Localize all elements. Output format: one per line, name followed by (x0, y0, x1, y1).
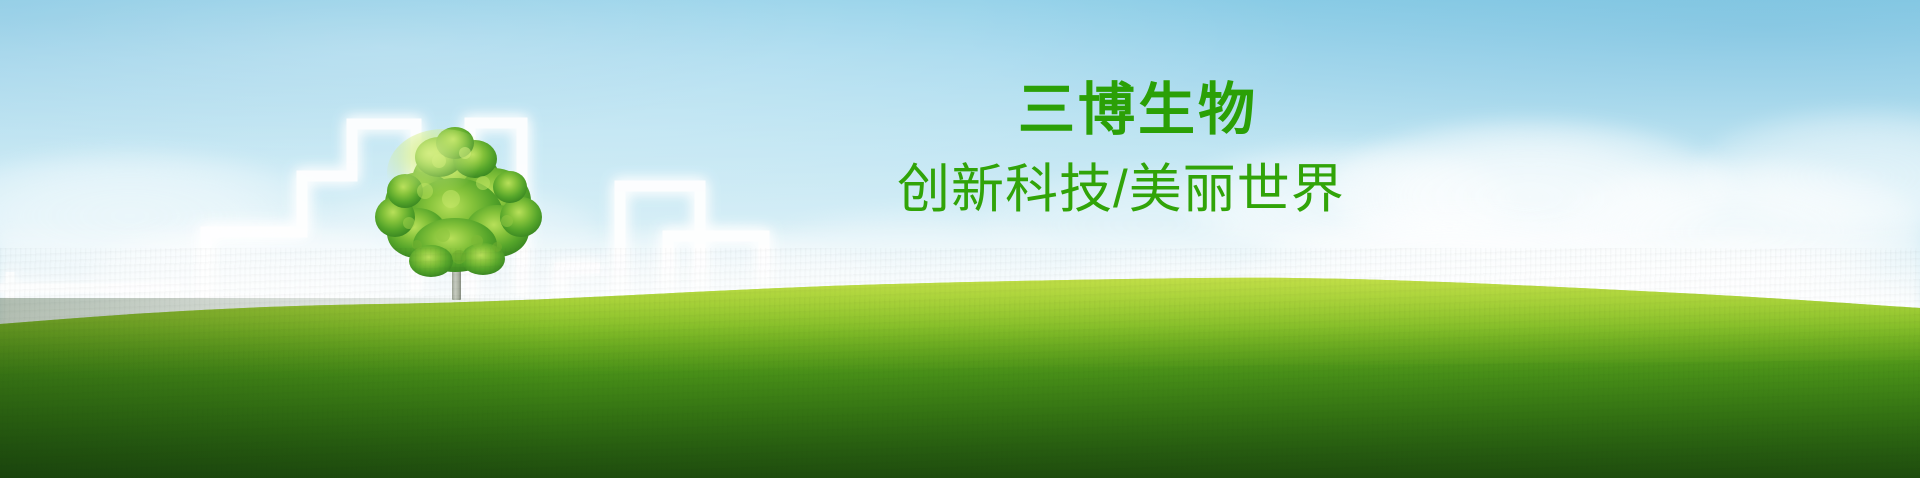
grass-left-shadow (0, 298, 560, 478)
hero-banner: 三博生物 创新科技/美丽世界 (0, 0, 1920, 478)
grass-field (0, 248, 1920, 478)
